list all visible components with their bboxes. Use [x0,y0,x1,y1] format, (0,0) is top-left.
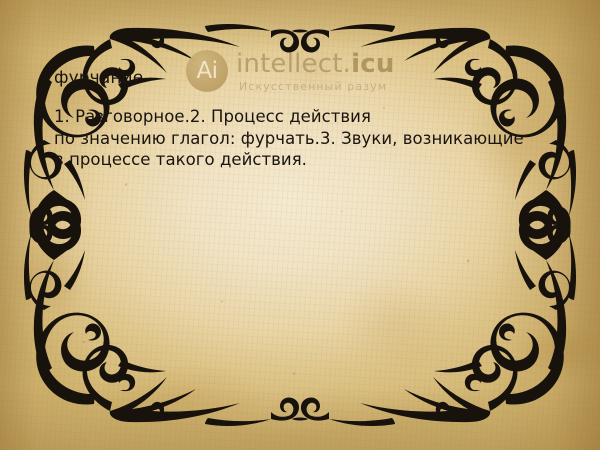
watermark-brand-first: intellect. [236,49,351,79]
ai-logo-text: Ai [196,60,217,83]
definition-line: в процессе такого действия. [54,149,546,171]
page-title: фурчание [54,68,143,88]
ai-logo-icon: Ai [186,50,228,92]
definition-line: по значению глагол: фурчать.3. Звуки, во… [54,128,546,150]
watermark: Ai intellect.icu Искусственный разум [186,50,395,92]
watermark-tagline: Искусственный разум [239,81,395,92]
definition-line: 1. Разговорное.2. Процесс действия [54,106,546,128]
definition-text: 1. Разговорное.2. Процесс действия по зн… [54,106,546,171]
watermark-brand-second: icu [351,49,394,79]
watermark-brand: intellect.icu [236,51,395,77]
dictionary-entry-card: Ai intellect.icu Искусственный разум фур… [0,0,600,450]
watermark-text-block: intellect.icu Искусственный разум [236,51,395,92]
